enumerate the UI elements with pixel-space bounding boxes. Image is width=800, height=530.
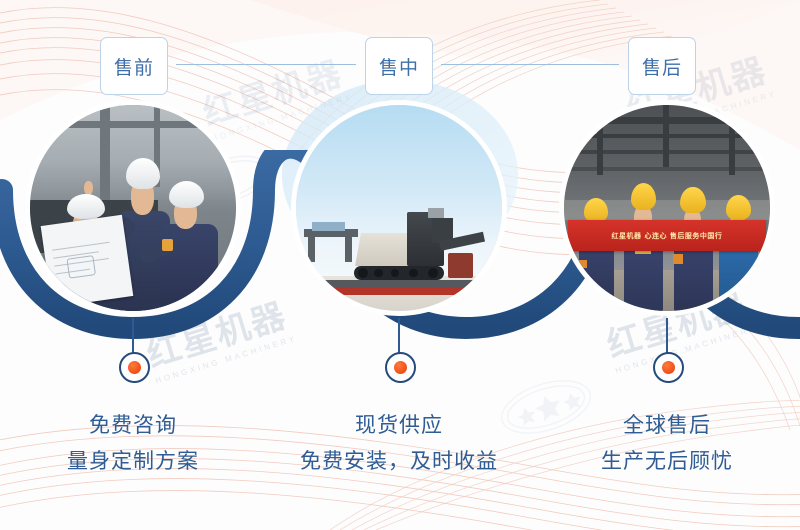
caption-line-2: 量身定制方案 [0,446,266,476]
marker-connector-line [398,318,400,354]
photo-in-sale [296,105,502,311]
marker-connector-line [132,318,134,354]
caption-line-1: 现货供应 [266,410,532,440]
card-caption: 全球售后 生产无后顾忧 [534,410,800,477]
marker-connector-line [666,318,668,354]
caption-line-2: 生产无后顾忧 [534,446,800,476]
caption-line-1: 全球售后 [534,410,800,440]
service-card-pre-sale: 免费咨询 量身定制方案 [0,0,266,530]
photo-pre-sale [30,105,236,311]
card-caption: 免费咨询 量身定制方案 [0,410,266,477]
dot-marker-icon [385,352,416,383]
service-card-after-sale: 红星机器 心连心 售后服务中国行 全球售后 生产无后顾忧 [534,0,800,530]
service-card-in-sale: 现货供应 免费安装，及时收益 [266,0,532,530]
dot-marker-icon [653,352,684,383]
caption-line-2: 免费安装，及时收益 [266,446,532,476]
card-caption: 现货供应 免费安装，及时收益 [266,410,532,477]
photo-banner-text: 红星机器 心连心 售后服务中国行 [568,220,766,251]
photo-after-sale: 红星机器 心连心 售后服务中国行 [564,105,770,311]
caption-line-1: 免费咨询 [0,410,266,440]
dot-marker-icon [119,352,150,383]
service-flow-banner: 红星机器 HONGXING MACHINERY 红星机器 HONGXING MA… [0,0,800,530]
